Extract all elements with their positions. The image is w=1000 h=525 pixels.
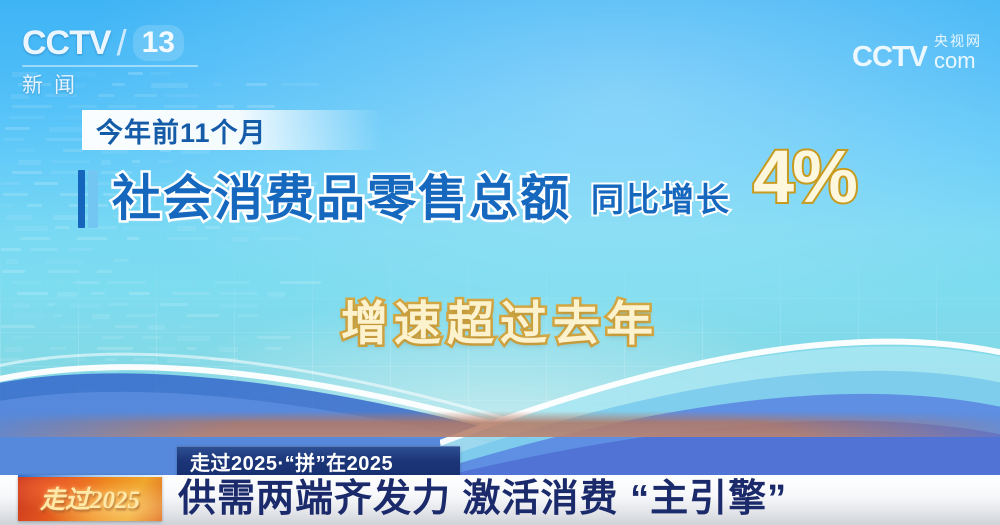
statistic-value: 4% xyxy=(753,140,856,214)
lower-third-headline: 供需两端齐发力 激活消费 “主引擎” xyxy=(178,479,787,519)
cctv-com-watermark: CCTV 央视网 com xyxy=(852,22,982,72)
eyebrow-text: 今年前11个月 xyxy=(82,111,267,150)
logo-slash-icon: / xyxy=(117,22,127,64)
accent-bars-decoration xyxy=(78,170,98,228)
watermark-cn-name: 央视网 xyxy=(934,34,982,49)
main-statistic-row: 社会消费品零售总额 同比增长 4% xyxy=(78,162,856,236)
broadcast-screen: CCTV / 13 新闻 CCTV 央视网 com 今年前11个月 社会消费品零… xyxy=(0,0,1000,525)
logo-underline xyxy=(22,65,198,67)
cctv13-channel-logo: CCTV / 13 新闻 xyxy=(22,22,222,84)
comparison-label: 同比增长 xyxy=(591,183,731,216)
tan-band-decoration xyxy=(0,411,1000,437)
channel-number: 13 xyxy=(133,25,184,61)
show-logo-badge: 走过2025 xyxy=(18,475,162,521)
kicker-bar: 走过2025·“拼”在2025 xyxy=(177,446,460,476)
watermark-domain: com xyxy=(934,49,976,72)
cctv-wordmark: CCTV xyxy=(22,26,111,60)
watermark-brand: CCTV xyxy=(852,42,927,72)
subline-text: 增速超过去年 xyxy=(0,285,1000,354)
eyebrow-band: 今年前11个月 xyxy=(82,110,382,150)
kicker-text: 走过2025·“拼”在2025 xyxy=(177,447,406,476)
show-logo-text: 走过2025 xyxy=(18,475,162,521)
indicator-label: 社会消费品零售总额 xyxy=(112,175,571,224)
channel-name: 新闻 xyxy=(22,69,222,99)
